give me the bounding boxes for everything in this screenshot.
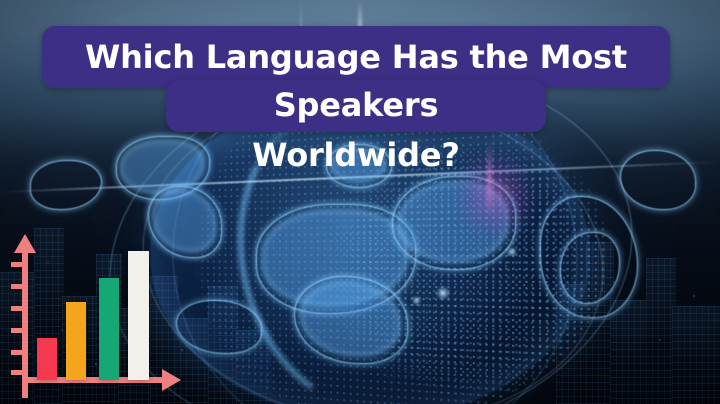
globe-highlight-spot-2 bbox=[412, 296, 421, 305]
bar-chart-graphic bbox=[0, 228, 200, 404]
page-title-line-2: Speakers Worldwide? bbox=[166, 80, 546, 132]
chart-bar-bar-4 bbox=[128, 251, 149, 380]
page-title-line-1: Which Language Has the Most Native bbox=[42, 26, 670, 88]
chart-bars bbox=[0, 228, 200, 380]
thumbnail-canvas: Which Language Has the Most Native Speak… bbox=[0, 0, 720, 404]
globe-highlight-spot-3 bbox=[506, 248, 518, 256]
globe-highlight-spot bbox=[436, 286, 450, 300]
magenta-accent-streak bbox=[488, 140, 491, 218]
magenta-accent-glow bbox=[455, 150, 535, 240]
chart-bar-bar-2 bbox=[66, 302, 86, 380]
chart-bar-bar-1 bbox=[37, 338, 57, 380]
chart-bar-bar-3 bbox=[99, 278, 119, 380]
